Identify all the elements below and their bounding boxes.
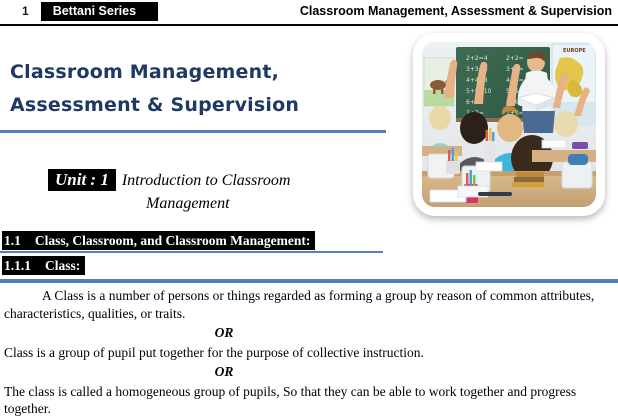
page-number: 1 — [8, 2, 41, 21]
unit-name-line-1: Introduction to Classroom — [116, 172, 291, 189]
chapter-title: Classroom Management, Assessment & Super… — [10, 56, 390, 122]
section-number-1-1-1: 1.1.1 — [4, 258, 45, 273]
unit-tag: Unit : 1 — [48, 169, 116, 191]
header-running-title: Classroom Management, Assessment & Super… — [300, 2, 612, 21]
header-divider — [0, 24, 618, 26]
section-heading-1-1: 1.1Class, Classroom, and Classroom Manag… — [2, 231, 315, 250]
section-divider — [0, 251, 383, 253]
unit-heading: Unit : 1Introduction to Classroom Manage… — [48, 168, 378, 213]
section-heading-1-1-1: 1.1.1Class: — [2, 256, 85, 275]
svg-text:2+2=4: 2+2=4 — [466, 55, 488, 62]
running-header: 1 Bettani Series Classroom Management, A… — [0, 0, 618, 26]
section-title-1-1-1: Class: — [45, 258, 80, 273]
body-paragraph-3: The class is called a homogeneous group … — [4, 383, 614, 418]
body-paragraph-2: Class is a group of pupil put together f… — [4, 344, 614, 362]
header-series-block: 1 Bettani Series — [8, 2, 158, 21]
chapter-title-line-2: Assessment & Supervision — [10, 89, 390, 122]
section-number-1-1: 1.1 — [4, 233, 35, 248]
section-title-1-1: Class, Classroom, and Classroom Manageme… — [35, 233, 311, 248]
classroom-photo-illustration: 2+2=4 3+3=6 4+4=8 5+5=10 6+6= 7+7= 2+2= … — [422, 42, 596, 207]
series-name: Bettani Series — [41, 2, 158, 21]
svg-text:EUROPE: EUROPE — [563, 48, 586, 54]
classroom-photo-frame: 2+2=4 3+3=6 4+4=8 5+5=10 6+6= 7+7= 2+2= … — [413, 33, 605, 216]
body-content: A Class is a number of persons or things… — [4, 287, 614, 420]
classroom-photo: 2+2=4 3+3=6 4+4=8 5+5=10 6+6= 7+7= 2+2= … — [422, 42, 596, 207]
unit-heading-line: Unit : 1Introduction to Classroom — [48, 168, 378, 192]
body-paragraph-1: A Class is a number of persons or things… — [4, 287, 614, 322]
unit-name-line-2: Management — [48, 195, 378, 213]
svg-text:2+2=: 2+2= — [506, 55, 524, 62]
body-or-1: OR — [4, 324, 614, 342]
body-divider — [0, 279, 618, 283]
document-page: 1 Bettani Series Classroom Management, A… — [0, 0, 618, 411]
body-or-2: OR — [4, 363, 614, 381]
stacked-books — [512, 172, 544, 187]
chapter-title-line-1: Classroom Management, — [10, 61, 279, 83]
chapter-title-underline — [0, 130, 386, 133]
